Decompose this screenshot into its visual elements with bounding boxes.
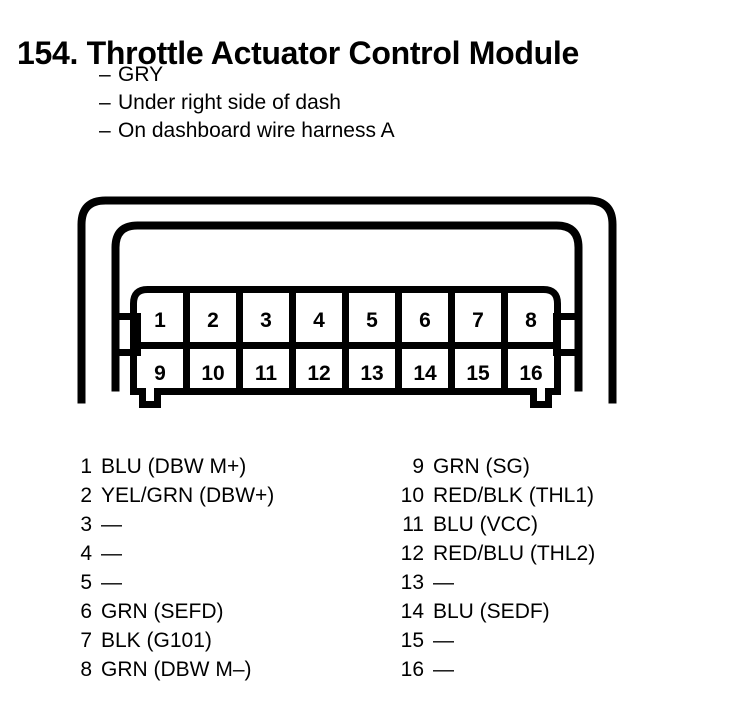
- pin-cell-1: 1: [154, 309, 166, 332]
- pin-legend-row: 13 —: [398, 568, 595, 597]
- pin-cell-8: 8: [525, 309, 537, 332]
- pin-number: 11: [398, 510, 424, 539]
- pin-legend-row: 3 —: [78, 510, 274, 539]
- pin-description: —: [424, 626, 454, 655]
- pin-description: —: [424, 568, 454, 597]
- pin-column-dividers: [187, 290, 505, 392]
- pin-number: 3: [78, 510, 92, 539]
- pin-cell-16: 16: [519, 362, 542, 385]
- pin-description: GRN (SG): [424, 452, 530, 481]
- spec-item-label: Under right side of dash: [118, 89, 341, 117]
- pin-legend-row: 5 —: [78, 568, 274, 597]
- pin-cell-6: 6: [419, 309, 431, 332]
- pin-cell-3: 3: [260, 309, 272, 332]
- pin-number: 5: [78, 568, 92, 597]
- pin-number: 7: [78, 626, 92, 655]
- spec-list: – GRY – Under right side of dash – On da…: [99, 61, 395, 145]
- pin-description: GRN (DBW M–): [92, 655, 252, 684]
- pin-description: —: [92, 510, 122, 539]
- pin-legend-row: 11 BLU (VCC): [398, 510, 595, 539]
- pin-description: BLK (G101): [92, 626, 212, 655]
- pin-number: 15: [398, 626, 424, 655]
- pin-number: 16: [398, 655, 424, 684]
- pin-number: 4: [78, 539, 92, 568]
- pin-number: 12: [398, 539, 424, 568]
- pin-legend-row: 12 RED/BLU (THL2): [398, 539, 595, 568]
- pin-number: 9: [398, 452, 424, 481]
- dash-bullet: –: [99, 117, 118, 145]
- pin-cell-7: 7: [472, 309, 484, 332]
- pin-cell-15: 15: [466, 362, 490, 385]
- pin-description: YEL/GRN (DBW+): [92, 481, 274, 510]
- pin-legend-row: 7 BLK (G101): [78, 626, 274, 655]
- spec-item-label: On dashboard wire harness A: [118, 117, 395, 145]
- pin-description: —: [424, 655, 454, 684]
- spec-item-label: GRY: [118, 61, 163, 89]
- spec-item: – On dashboard wire harness A: [99, 117, 395, 145]
- pin-number: 8: [78, 655, 92, 684]
- pin-cell-5: 5: [366, 309, 378, 332]
- pin-cell-12: 12: [307, 362, 330, 385]
- pin-number: 10: [398, 481, 424, 510]
- connector-diagram: 1 2 3 4 5 6 7 8 9 10 11 12 13 14 15 16: [60, 185, 640, 425]
- pin-legend-row: 8 GRN (DBW M–): [78, 655, 274, 684]
- pin-legend-row: 9 GRN (SG): [398, 452, 595, 481]
- spec-item: – GRY: [99, 61, 395, 89]
- pin-cell-13: 13: [360, 362, 383, 385]
- pin-cell-14: 14: [413, 362, 437, 385]
- pin-number: 2: [78, 481, 92, 510]
- pin-description: BLU (SEDF): [424, 597, 550, 626]
- pin-description: —: [92, 568, 122, 597]
- pin-description: BLU (VCC): [424, 510, 538, 539]
- pin-number: 1: [78, 452, 92, 481]
- pin-legend-row: 2 YEL/GRN (DBW+): [78, 481, 274, 510]
- pin-legend-row: 6 GRN (SEFD): [78, 597, 274, 626]
- pin-description: RED/BLK (THL1): [424, 481, 594, 510]
- pin-legend-row: 15 —: [398, 626, 595, 655]
- pin-cell-2: 2: [207, 309, 219, 332]
- pin-description: —: [92, 539, 122, 568]
- pin-cell-11: 11: [255, 362, 278, 385]
- pin-legend-row: 16 —: [398, 655, 595, 684]
- pin-number: 6: [78, 597, 92, 626]
- dash-bullet: –: [99, 89, 118, 117]
- pin-legend-left: 1 BLU (DBW M+) 2 YEL/GRN (DBW+) 3 — 4 — …: [78, 452, 274, 684]
- pin-cell-9: 9: [154, 362, 166, 385]
- pin-number: 14: [398, 597, 424, 626]
- pin-legend-row: 10 RED/BLK (THL1): [398, 481, 595, 510]
- pin-cell-4: 4: [313, 309, 325, 332]
- pin-description: BLU (DBW M+): [92, 452, 246, 481]
- pin-legend-row: 1 BLU (DBW M+): [78, 452, 274, 481]
- dash-bullet: –: [99, 61, 118, 89]
- pin-number: 13: [398, 568, 424, 597]
- pin-legend-row: 4 —: [78, 539, 274, 568]
- pin-description: RED/BLU (THL2): [424, 539, 595, 568]
- pin-cell-10: 10: [201, 362, 224, 385]
- pin-legend-row: 14 BLU (SEDF): [398, 597, 595, 626]
- spec-item: – Under right side of dash: [99, 89, 395, 117]
- pin-description: GRN (SEFD): [92, 597, 224, 626]
- pin-legend-right: 9 GRN (SG) 10 RED/BLK (THL1) 11 BLU (VCC…: [398, 452, 595, 684]
